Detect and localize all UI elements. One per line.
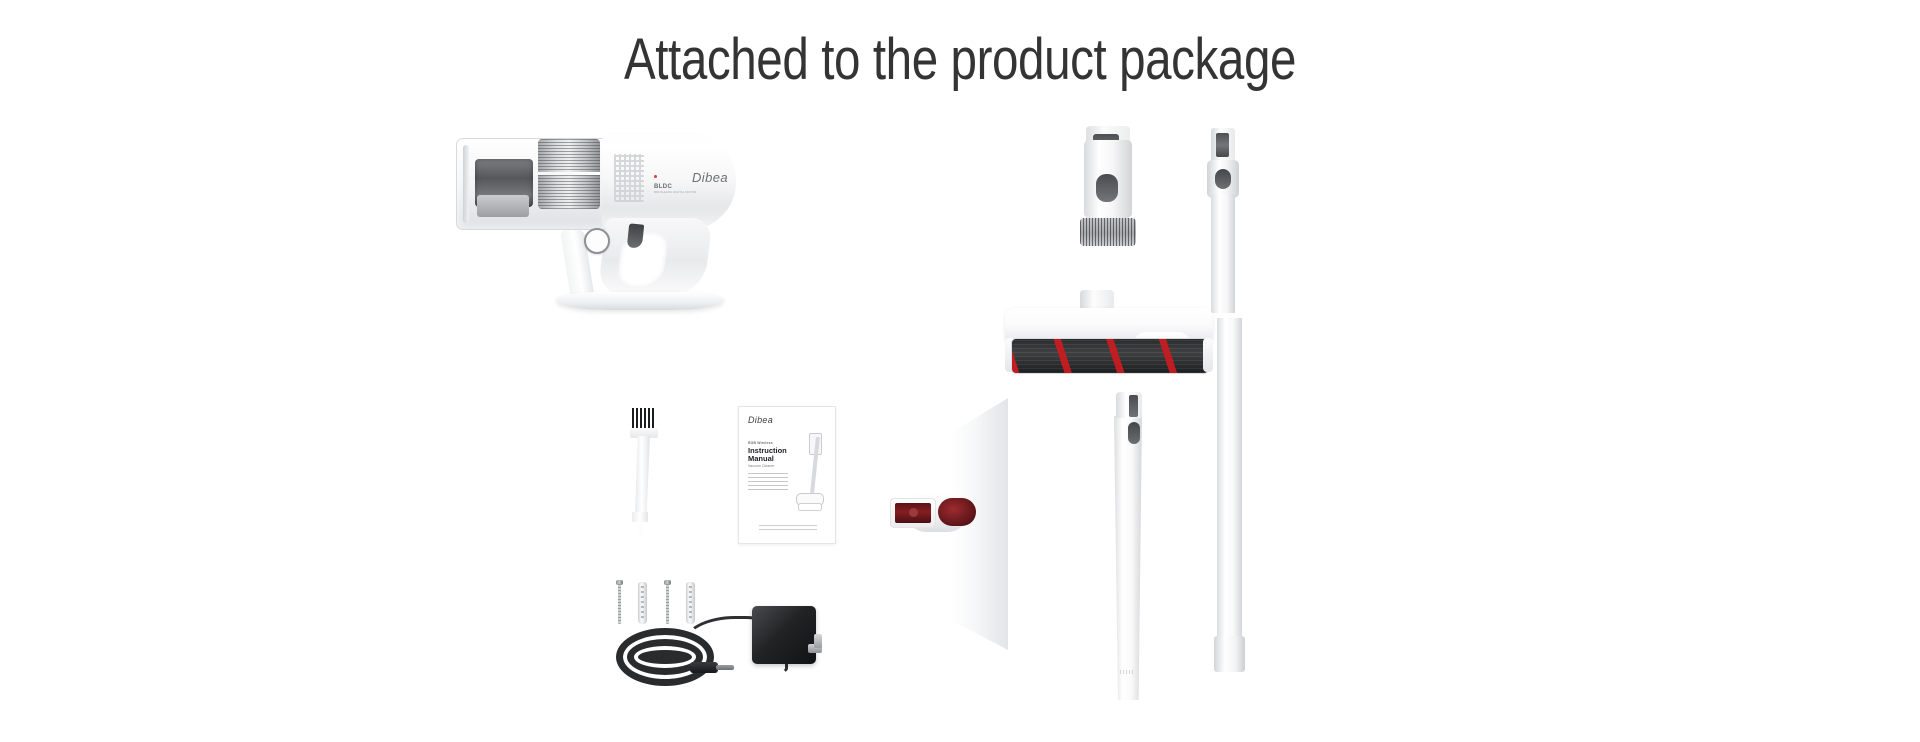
dc-plug [690, 662, 734, 673]
wall-mount-socket [890, 498, 936, 528]
crevice-release-button [1128, 422, 1140, 444]
manual-title: InstructionManual [748, 447, 787, 463]
wall-mount-port [938, 498, 976, 526]
tube-release-button [1215, 169, 1231, 189]
wall-mount-socket-pin [909, 508, 918, 517]
cleaning-brush-bristles [632, 408, 656, 430]
manual-body-text [748, 473, 788, 493]
manual-illustration-brush-base [798, 503, 822, 511]
pistol-grip [597, 218, 713, 296]
product-package-figure: Attached to the product package BLDC BRU… [0, 0, 1920, 742]
cleaning-brush-handle [635, 436, 650, 514]
product-main-handheld-vacuum: BLDC BRUSHLESS DIGITAL MOTOR Dibea [452, 126, 782, 311]
manual-cover-illustration [794, 433, 828, 521]
tube-top-shaft [1211, 194, 1235, 313]
mini-brush-release-button [1096, 174, 1118, 202]
dust-bin-inner-base [477, 195, 529, 217]
product-instruction-manual: Dibea RGB Wireless InstructionManual Vac… [738, 406, 836, 544]
product-motorized-floor-brush [1005, 290, 1213, 378]
crevice-marking [1120, 670, 1134, 674]
grip-opening [616, 232, 669, 288]
crevice-shaft [1114, 416, 1142, 700]
manual-eyebrow: RGB Wireless [748, 441, 773, 445]
status-led-icon [654, 175, 657, 178]
page-title: Attached to the product package [173, 26, 1747, 93]
product-extension-tube [1212, 318, 1248, 674]
product-wall-mount-bracket [890, 398, 1070, 658]
tube-top-slot [1216, 133, 1229, 157]
floor-brush-roller [1011, 338, 1209, 374]
screw-2 [664, 580, 671, 624]
adapter-prong [814, 634, 822, 648]
product-extension-tube-top [1203, 128, 1243, 313]
crevice-slot [1129, 395, 1138, 417]
cyclone-split-line [538, 172, 600, 175]
air-vent-grille [614, 154, 644, 202]
stand-base [556, 292, 724, 310]
product-cleaning-brush [624, 408, 660, 540]
product-electric-mini-brush [1062, 126, 1158, 248]
brand-logo: Dibea [692, 170, 728, 185]
wall-anchor-1 [638, 582, 647, 624]
manual-footer-text [759, 525, 817, 531]
wall-anchor-2 [686, 582, 695, 624]
screw-1 [616, 580, 623, 624]
motor-housing: BLDC BRUSHLESS DIGITAL MOTOR Dibea [602, 132, 736, 230]
product-crevice-nozzle [1112, 392, 1146, 704]
extension-tube-shaft [1217, 318, 1242, 642]
power-cable-coil [616, 628, 714, 686]
product-mounting-hardware [612, 578, 836, 682]
bldc-marking: BLDC BRUSHLESS DIGITAL MOTOR [654, 184, 696, 194]
manual-subtitle: Vacuum Cleaner [748, 464, 775, 468]
manual-brand-logo: Dibea [748, 415, 773, 425]
ac-power-adapter [752, 606, 816, 664]
mini-brush-roller [1080, 218, 1136, 246]
power-button-ring [584, 228, 610, 254]
extension-tube-cuff [1214, 636, 1245, 672]
cleaning-brush-fork-tip [632, 512, 648, 538]
